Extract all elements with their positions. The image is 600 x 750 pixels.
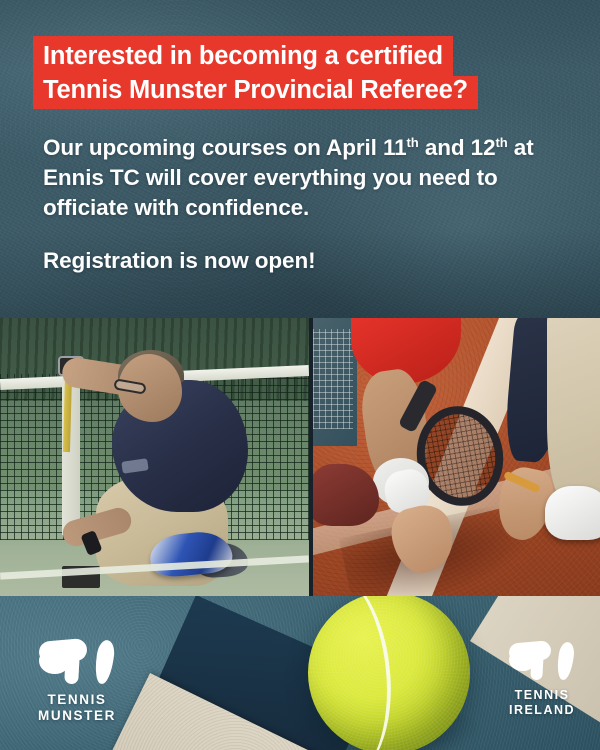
net-measurement-photo (0, 318, 309, 596)
body-copy: Our upcoming courses on April 11th and 1… (43, 133, 563, 223)
body-line-2: Ennis TC will cover everything you need … (43, 163, 563, 193)
ball-mark-inspection-photo (313, 318, 600, 596)
headline: Interested in becoming a certified Tenni… (33, 36, 553, 109)
net-mesh-right (313, 329, 353, 429)
tennis-ireland-ti-mark-icon (509, 640, 575, 680)
tennis-munster-logo-text: TENNIS MUNSTER (22, 692, 132, 725)
tennis-ball (308, 595, 470, 750)
white-sneaker (545, 486, 600, 540)
ordinal-suffix-11: th (407, 135, 419, 150)
photo-strip (0, 318, 600, 596)
tennis-munster-logo-line-2: MUNSTER (22, 708, 132, 724)
body-line-1-mid: and 12 (419, 135, 496, 160)
tennis-ireland-logo-line-2: IRELAND (492, 703, 592, 718)
ordinal-suffix-12: th (496, 135, 508, 150)
bystander-khaki-trousers (547, 318, 600, 500)
tennis-ireland-logo-text: TENNIS IRELAND (492, 688, 592, 719)
body-line-1: Our upcoming courses on April 11th and 1… (43, 133, 563, 163)
headline-line-2: Tennis Munster Provincial Referee? (33, 76, 478, 110)
tennis-munster-logo: TENNIS MUNSTER (22, 638, 132, 725)
tennis-ireland-logo-line-1: TENNIS (492, 688, 592, 703)
body-line-1-pre: Our upcoming courses on April 11 (43, 135, 407, 160)
tennis-ireland-logo: TENNIS IRELAND (492, 640, 592, 719)
tennis-munster-logo-line-1: TENNIS (22, 692, 132, 708)
body-line-3: officiate with confidence. (43, 193, 563, 223)
body-line-1-post: at (508, 135, 534, 160)
registration-cta-text: Registration is now open! (43, 248, 316, 274)
tennis-ireland-ti-mark-icon (39, 638, 115, 684)
headline-line-1: Interested in becoming a certified (33, 36, 453, 76)
poster-root: Interested in becoming a certified Tenni… (0, 0, 600, 750)
